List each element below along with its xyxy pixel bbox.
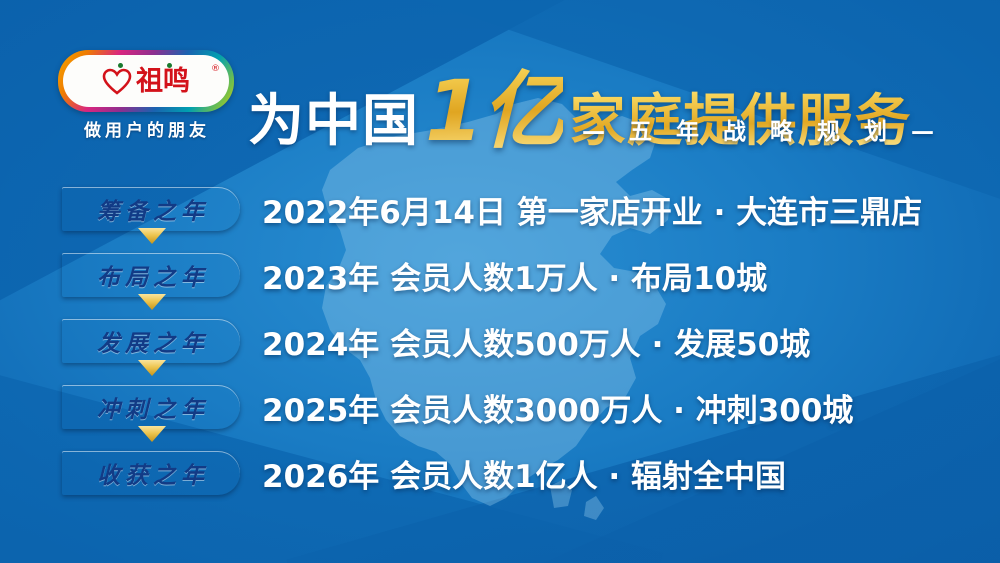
heart-icon [102,68,132,95]
title-highlight-number: 1亿 [425,44,563,165]
timeline-row-text: 2025年 会员人数3000万人 · 冲刺300城 [262,385,853,430]
brand-logo: 祖鸣 ® [58,50,234,112]
brand-tagline: 做用户的朋友 [52,116,242,141]
timeline-badge: 布局之年 [62,253,240,297]
logo-accent-dot-2 [167,63,172,68]
timeline-badge-label: 布局之年 [93,258,209,292]
title-part-1: 为中国 [248,76,419,157]
brand-logo-text: 祖鸣 [136,68,190,95]
timeline-badge: 筹备之年 [62,187,240,231]
timeline-row: 收获之年 2026年 会员人数1亿人 · 辐射全中国 [0,440,1000,506]
poster-header: 祖鸣 ® 做用户的朋友 为中国 1亿 家庭提供服务 — 五 年 战 略 规 划 … [0,0,1000,160]
timeline-row-text: 2026年 会员人数1亿人 · 辐射全中国 [262,451,786,496]
timeline-badge-label: 发展之年 [93,324,209,358]
registered-trademark-icon: ® [211,64,220,74]
timeline-list: 筹备之年 2022年6月14日 第一家店开业 · 大连市三鼎店 布局之年 202… [0,176,1000,506]
poster-canvas: 祖鸣 ® 做用户的朋友 为中国 1亿 家庭提供服务 — 五 年 战 略 规 划 … [0,0,1000,563]
timeline-row-text: 2023年 会员人数1万人 · 布局10城 [262,253,767,298]
timeline-badge: 发展之年 [62,319,240,363]
timeline-badge: 冲刺之年 [62,385,240,429]
page-title: 为中国 1亿 家庭提供服务 [248,44,911,120]
logo-accent-dot-1 [118,63,123,68]
brand-logo-inner: 祖鸣 ® [63,55,229,107]
timeline-row-text: 2024年 会员人数500万人 · 发展50城 [262,319,810,364]
page-subtitle: — 五 年 战 略 规 划 — [582,112,942,146]
timeline-badge-label: 筹备之年 [93,192,209,226]
timeline-badge-label: 收获之年 [93,456,209,490]
timeline-badge: 收获之年 [62,451,240,495]
timeline-badge-label: 冲刺之年 [93,390,209,424]
timeline-row-text: 2022年6月14日 第一家店开业 · 大连市三鼎店 [262,187,922,232]
